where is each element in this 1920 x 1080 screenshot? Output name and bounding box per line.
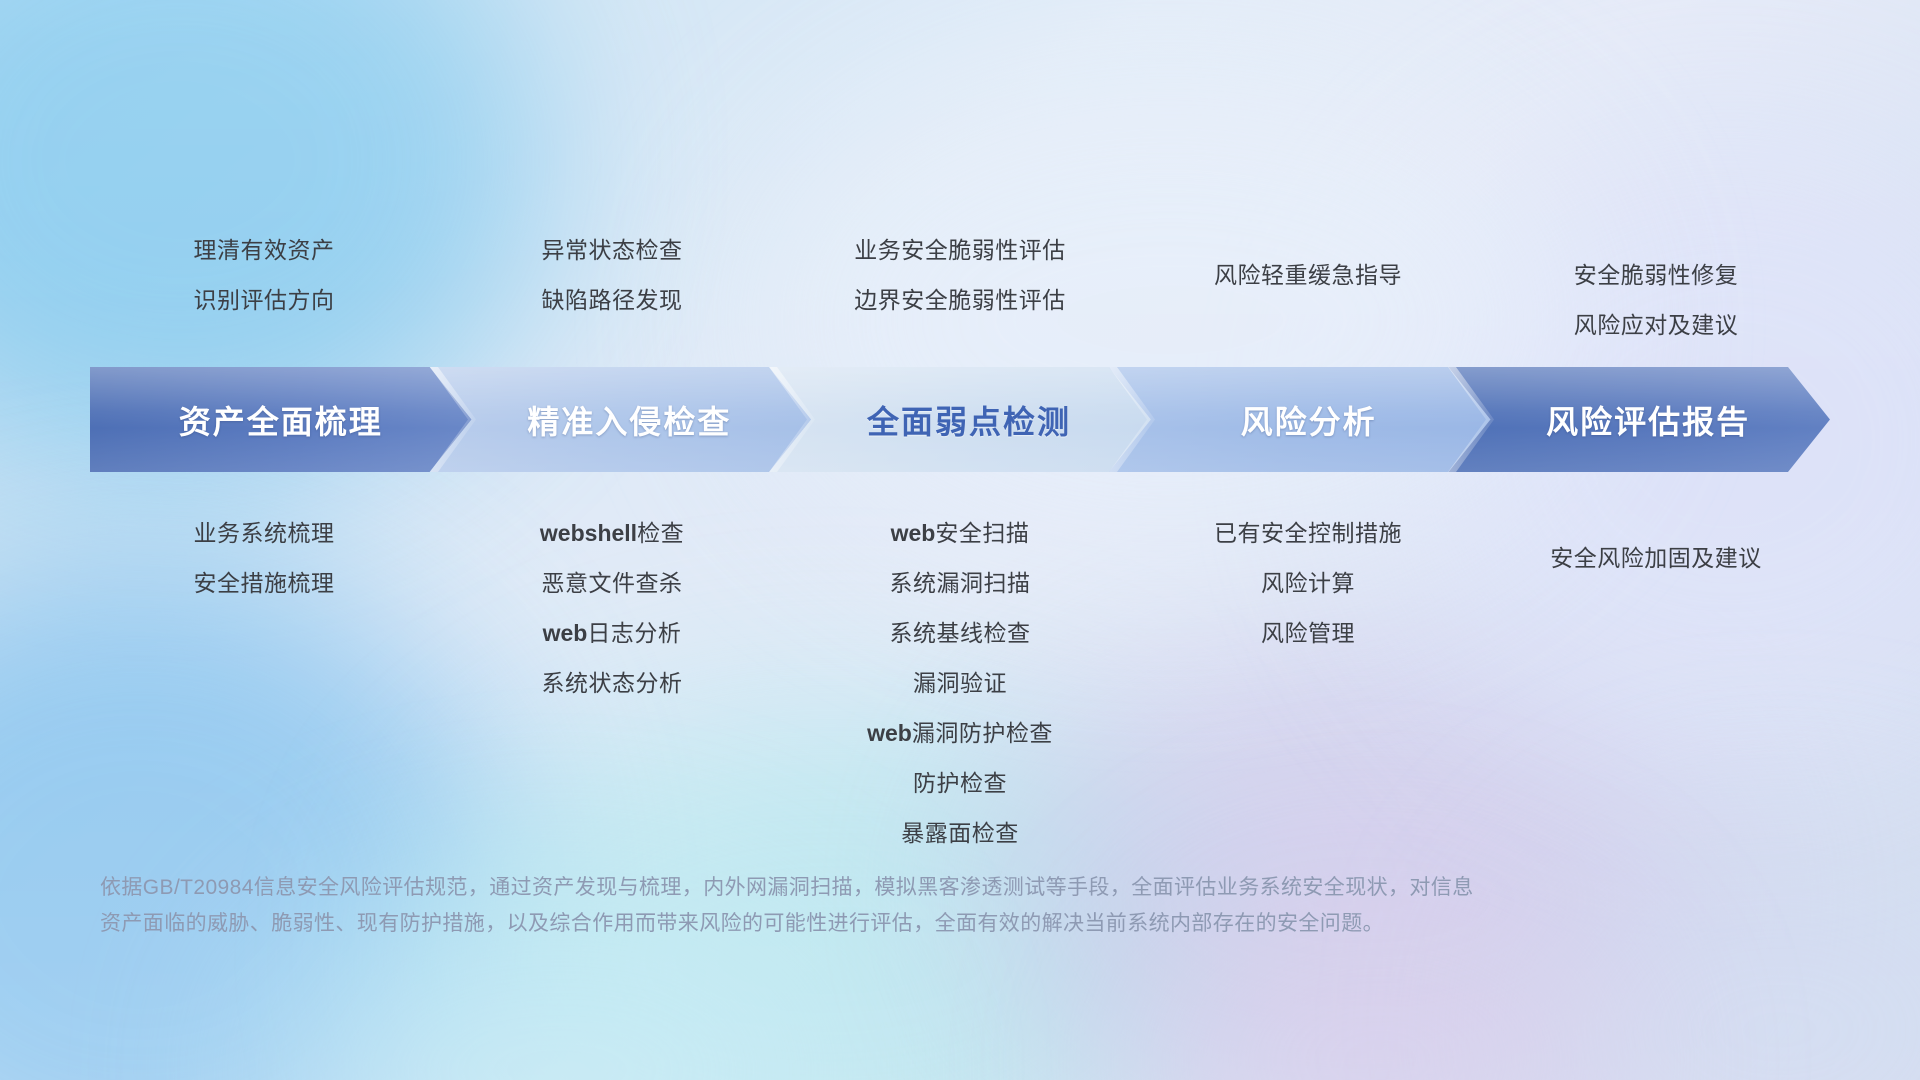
bottom-note-text: 暴露面检查 [901,820,1019,846]
bottom-note: 风险管理 [1261,608,1355,658]
bottom-notes-column-weakness-detection: web安全扫描系统漏洞扫描系统基线检查漏洞验证web漏洞防护检查防护检查暴露面检… [786,508,1134,858]
bottom-notes-row: 业务系统梳理安全措施梳理webshell检查恶意文件查杀web日志分析系统状态分… [90,508,1830,858]
stage-chevron-asset-inventory[interactable]: 资产全面梳理 [90,367,472,472]
bottom-note: 安全风险加固及建议 [1550,533,1762,583]
stage-title: 风险评估报告 [1546,397,1750,443]
bottom-note: 系统基线检查 [890,608,1031,658]
bottom-note-text: 漏洞验证 [913,670,1007,696]
top-notes-column-risk-analysis: 风险轻重缓急指导 [1134,225,1482,350]
bottom-note: web日志分析 [543,608,682,658]
bottom-note: webshell检查 [540,508,684,558]
bottom-note: 系统状态分析 [542,658,683,708]
slide-canvas: 理清有效资产识别评估方向异常状态检查缺陷路径发现业务安全脆弱性评估边界安全脆弱性… [0,0,1920,1080]
top-note: 安全脆弱性修复 [1574,250,1739,300]
bottom-notes-column-asset-inventory: 业务系统梳理安全措施梳理 [90,508,438,858]
bottom-note: 已有安全控制措施 [1214,508,1402,558]
top-notes-column-weakness-detection: 业务安全脆弱性评估边界安全脆弱性评估 [786,225,1134,350]
bottom-note-text: 恶意文件查杀 [542,570,683,596]
bottom-note-text: 业务系统梳理 [194,520,335,546]
bottom-note: 暴露面检查 [901,808,1019,858]
bottom-notes-column-intrusion-check: webshell检查恶意文件查杀web日志分析系统状态分析 [438,508,786,858]
stage-title: 精准入侵检查 [527,397,731,443]
top-note: 业务安全脆弱性评估 [854,225,1066,275]
footer-line-2: 资产面临的威胁、脆弱性、现有防护措施，以及综合作用而带来风险的可能性进行评估，全… [100,906,1740,942]
slide-content: 理清有效资产识别评估方向异常状态检查缺陷路径发现业务安全脆弱性评估边界安全脆弱性… [0,0,1920,1080]
bottom-note-keyword: web [891,520,936,546]
top-note: 理清有效资产 [194,225,335,275]
bottom-note-text: 系统基线检查 [890,620,1031,646]
top-note: 缺陷路径发现 [542,275,683,325]
stage-title: 风险分析 [1241,397,1377,443]
top-note: 边界安全脆弱性评估 [854,275,1066,325]
top-note: 识别评估方向 [194,275,335,325]
stage-chevron-risk-analysis[interactable]: 风险分析 [1109,367,1491,472]
bottom-note-text: 风险管理 [1261,620,1355,646]
bottom-note-text: 系统漏洞扫描 [890,570,1031,596]
process-chevron-band: 资产全面梳理精准入侵检查全面弱点检测风险分析风险评估报告 [90,367,1830,472]
bottom-note-keyword: web [543,620,588,646]
bottom-note-text: 风险计算 [1261,570,1355,596]
bottom-note-text: 检查 [637,520,684,546]
bottom-note: web安全扫描 [891,508,1030,558]
bottom-note-text: 已有安全控制措施 [1214,520,1402,546]
top-notes-row: 理清有效资产识别评估方向异常状态检查缺陷路径发现业务安全脆弱性评估边界安全脆弱性… [90,225,1830,350]
top-notes-column-assessment-report: 安全脆弱性修复风险应对及建议 [1482,225,1830,350]
bottom-note: 恶意文件查杀 [542,558,683,608]
bottom-note-keyword: web [867,720,912,746]
bottom-note-text: 安全风险加固及建议 [1550,545,1762,571]
bottom-note-keyword: webshell [540,520,637,546]
bottom-note-text: 防护检查 [913,770,1007,796]
bottom-note-text: 日志分析 [587,620,681,646]
bottom-note: 防护检查 [913,758,1007,808]
bottom-note-text: 系统状态分析 [542,670,683,696]
top-notes-column-asset-inventory: 理清有效资产识别评估方向 [90,225,438,350]
bottom-note: 系统漏洞扫描 [890,558,1031,608]
stage-chevron-weakness-detection[interactable]: 全面弱点检测 [769,367,1151,472]
bottom-note-text: 漏洞防护检查 [912,720,1053,746]
top-note: 风险轻重缓急指导 [1214,250,1402,300]
stage-chevron-assessment-report[interactable]: 风险评估报告 [1448,367,1830,472]
top-note: 异常状态检查 [542,225,683,275]
bottom-notes-column-risk-analysis: 已有安全控制措施风险计算风险管理 [1134,508,1482,858]
stage-title: 资产全面梳理 [179,397,383,443]
bottom-note-text: 安全扫描 [935,520,1029,546]
bottom-note: 业务系统梳理 [194,508,335,558]
top-note: 风险应对及建议 [1574,300,1739,350]
bottom-note: 风险计算 [1261,558,1355,608]
stage-title: 全面弱点检测 [867,397,1071,443]
bottom-notes-column-assessment-report: 安全风险加固及建议 [1482,508,1830,858]
stage-chevron-intrusion-check[interactable]: 精准入侵检查 [430,367,812,472]
bottom-note: 漏洞验证 [913,658,1007,708]
bottom-note-text: 安全措施梳理 [194,570,335,596]
footer-description: 依据GB/T20984信息安全风险评估规范，通过资产发现与梳理，内外网漏洞扫描，… [100,870,1740,942]
footer-line-1: 依据GB/T20984信息安全风险评估规范，通过资产发现与梳理，内外网漏洞扫描，… [100,870,1740,906]
top-notes-column-intrusion-check: 异常状态检查缺陷路径发现 [438,225,786,350]
bottom-note: web漏洞防护检查 [867,708,1053,758]
bottom-note: 安全措施梳理 [194,558,335,608]
